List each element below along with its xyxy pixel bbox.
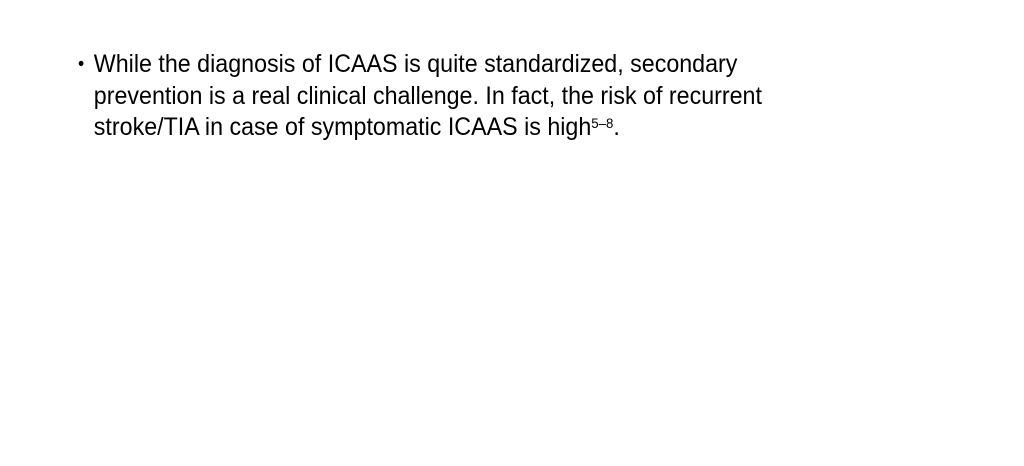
- bullet-list: •While the diagnosis of ICAAS is quite s…: [78, 49, 915, 144]
- bullet-list-item: •While the diagnosis of ICAAS is quite s…: [78, 49, 915, 81]
- bullet-text-line-2-row: prevention is a real clinical challenge.…: [78, 81, 915, 113]
- bullet-text-line-2: prevention is a real clinical challenge.…: [94, 82, 762, 110]
- bullet-text-line-1: While the diagnosis of ICAAS is quite st…: [94, 50, 738, 78]
- body-text-placeholder[interactable]: •While the diagnosis of ICAAS is quite s…: [78, 49, 978, 144]
- sentence-period: .: [613, 113, 619, 141]
- bullet-text-line-3-row: stroke/TIA in case of symptomatic ICAAS …: [78, 112, 915, 144]
- bullet-text-line-3: stroke/TIA in case of symptomatic ICAAS …: [94, 113, 591, 141]
- slide-canvas: •While the diagnosis of ICAAS is quite s…: [0, 0, 1024, 466]
- reference-superscript: 5–8: [591, 116, 613, 132]
- bullet-point-icon: •: [78, 49, 94, 81]
